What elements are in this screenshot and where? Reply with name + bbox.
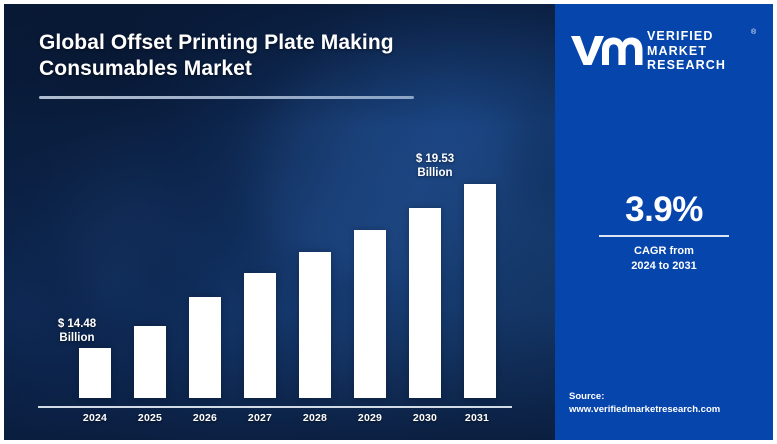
x-tick-2031: 2031 [454,412,500,424]
cagr-caption-line2: 2024 to 2031 [555,259,773,274]
source-note: Source: www.verifiedmarketresearch.com [569,391,769,416]
bar-2024 [79,348,111,398]
cagr-divider [599,235,729,237]
value-label-2031-unit: Billion [390,166,480,180]
cagr-caption: CAGR from 2024 to 2031 [555,244,773,274]
registered-trademark-icon: ® [751,29,756,36]
brand-logo: VERIFIED MARKET RESEARCH ® [569,29,761,75]
x-tick-2026: 2026 [182,412,228,424]
bar-2031 [464,184,496,398]
cagr-value: 3.9% [555,190,773,230]
source-label: Source: [569,391,769,404]
x-tick-2030: 2030 [402,412,448,424]
brand-panel: VERIFIED MARKET RESEARCH ® 3.9% CAGR fro… [555,4,773,440]
bar-2027 [244,273,276,398]
source-url[interactable]: www.verifiedmarketresearch.com [569,404,769,417]
x-tick-2027: 2027 [237,412,283,424]
chart-panel: Global Offset Printing Plate Making Cons… [4,4,555,440]
x-tick-2029: 2029 [347,412,393,424]
brand-name-line1: VERIFIED [647,29,726,44]
bar-2026 [189,297,221,398]
brand-name-line2: MARKET [647,44,726,59]
x-tick-2024: 2024 [72,412,118,424]
cagr-caption-line1: CAGR from [555,244,773,259]
bar-2025 [134,326,166,398]
value-label-2031: $ 19.53 Billion [390,152,480,180]
x-tick-2025: 2025 [127,412,173,424]
bar-2028 [299,252,331,398]
x-axis-line [38,406,512,408]
bar-2029 [354,230,386,398]
bar-chart: 2024 2025 2026 2027 2028 2029 2030 2031 … [4,4,555,440]
bar-2030 [409,208,441,398]
brand-name-line3: RESEARCH [647,58,726,73]
x-tick-2028: 2028 [292,412,338,424]
infographic-frame: Global Offset Printing Plate Making Cons… [0,0,777,444]
value-label-2024-amount: $ 14.48 [32,317,122,331]
value-label-2024-unit: Billion [32,331,122,345]
vmr-logo-icon [569,33,643,67]
brand-name: VERIFIED MARKET RESEARCH [647,29,726,73]
value-label-2024: $ 14.48 Billion [32,317,122,345]
value-label-2031-amount: $ 19.53 [390,152,480,166]
